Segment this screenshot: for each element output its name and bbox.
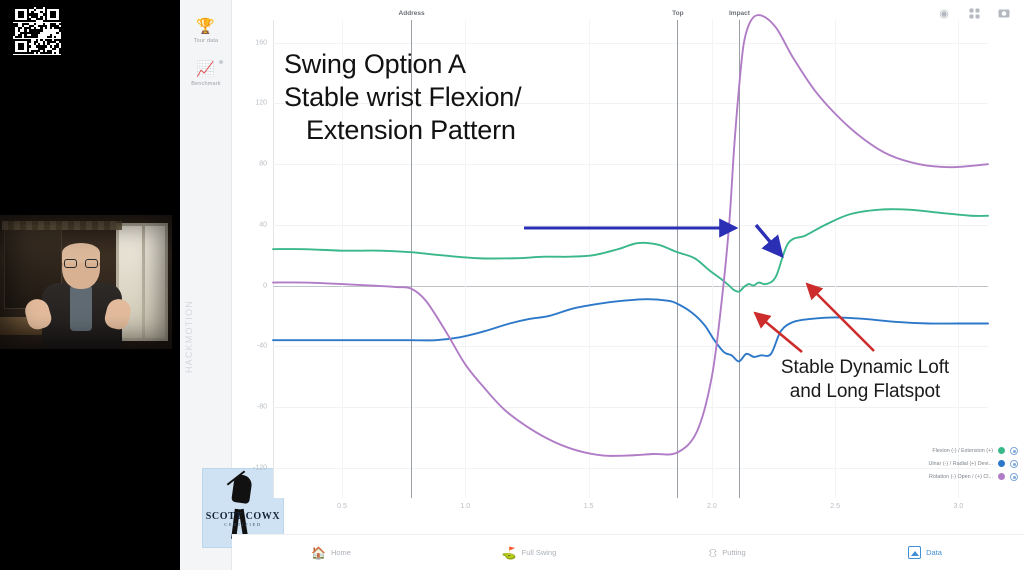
annotation-title-line1: Swing Option A bbox=[284, 48, 521, 81]
y-axis-tick-label: -120 bbox=[253, 464, 267, 471]
legend-label: Flexion (-) / Extension (+) bbox=[932, 448, 993, 454]
phase-marker-label: Top bbox=[672, 10, 683, 17]
annotation-title-line2: Stable wrist Flexion/ bbox=[284, 81, 521, 114]
trophy-icon: 🏆 bbox=[183, 18, 229, 36]
y-axis-tick-label: 80 bbox=[259, 161, 267, 168]
putter-icon: ⛻ bbox=[708, 547, 717, 559]
bottom-nav: 🏠 Home ⛳ Full Swing ⛻ Putting Data bbox=[232, 534, 1024, 570]
x-axis-tick-label: 0.5 bbox=[337, 503, 347, 510]
annotation-title-line3: Extension Pattern bbox=[284, 114, 521, 147]
nav-item-label: Home bbox=[331, 548, 351, 557]
nav-item-home[interactable]: 🏠 Home bbox=[232, 547, 430, 559]
golfer-silhouette-icon bbox=[229, 475, 255, 541]
nav-item-full-swing[interactable]: ⛳ Full Swing bbox=[430, 547, 628, 559]
rail-top-stub bbox=[180, 0, 231, 12]
annotation-title: Swing Option A Stable wrist Flexion/ Ext… bbox=[284, 48, 521, 147]
camera-icon-svg bbox=[998, 8, 1010, 18]
y-axis-tick-label: 0 bbox=[263, 282, 267, 289]
sidebar-item-tour-data[interactable]: 🏆 Tour data bbox=[183, 12, 229, 49]
nav-item-data[interactable]: Data bbox=[826, 546, 1024, 559]
left-rail: 🏆 Tour data 📈 Benchmark HACKMOTION SCOTT… bbox=[180, 0, 232, 570]
legend-item[interactable]: Ulnar (-) / Radial (+) Devi... bbox=[866, 457, 1018, 470]
logo-subtitle: CERTIFIED bbox=[203, 522, 283, 527]
eye-icon[interactable] bbox=[1010, 460, 1018, 468]
home-icon: 🏠 bbox=[311, 547, 326, 559]
x-axis-tick-label: 3.0 bbox=[954, 503, 964, 510]
legend-label: Ulnar (-) / Radial (+) Devi... bbox=[928, 461, 993, 467]
annotation-note-line1: Stable Dynamic Loft bbox=[750, 356, 980, 380]
sidebar-item-label: Tour data bbox=[181, 38, 229, 44]
camera-icon[interactable] bbox=[994, 4, 1014, 22]
legend-item[interactable]: Rotation (-) Open / (+) Cl... bbox=[866, 470, 1018, 483]
annotation-note-line2: and Long Flatspot bbox=[750, 380, 980, 404]
webcam-vignette bbox=[0, 215, 172, 349]
x-axis-tick-label: 2.5 bbox=[830, 503, 840, 510]
x-axis-tick-label: 1.5 bbox=[584, 503, 594, 510]
phase-marker-label: Address bbox=[399, 10, 425, 17]
y-axis-tick-label: 160 bbox=[255, 39, 267, 46]
legend-color-swatch bbox=[998, 447, 1005, 454]
nav-item-label: Full Swing bbox=[522, 548, 557, 557]
brand-watermark: HACKMOTION bbox=[184, 300, 228, 373]
phase-marker-label: Impact bbox=[729, 10, 750, 17]
legend-item[interactable]: Flexion (-) / Extension (+) bbox=[866, 444, 1018, 457]
eye-icon[interactable] bbox=[1010, 473, 1018, 481]
y-axis-tick-label: -40 bbox=[257, 343, 267, 350]
data-file-icon bbox=[908, 546, 921, 559]
x-axis-tick-label: 2.0 bbox=[707, 503, 717, 510]
legend-label: Rotation (-) Open / (+) Cl... bbox=[929, 474, 993, 480]
nav-item-label: Putting bbox=[722, 548, 745, 557]
nav-item-putting[interactable]: ⛻ Putting bbox=[628, 547, 826, 559]
screen-root: 🏆 Tour data 📈 Benchmark HACKMOTION SCOTT… bbox=[0, 0, 1024, 570]
series-line[interactable] bbox=[273, 209, 988, 292]
y-axis-tick-label: 40 bbox=[259, 221, 267, 228]
qr-code bbox=[6, 3, 68, 58]
sidebar-item-benchmark[interactable]: 📈 Benchmark bbox=[183, 55, 229, 92]
logo-name: SCOTT COWX bbox=[203, 511, 283, 522]
eye-icon[interactable] bbox=[1010, 447, 1018, 455]
annotation-note: Stable Dynamic Loft and Long Flatspot bbox=[750, 356, 980, 404]
y-axis-tick-label: -80 bbox=[257, 403, 267, 410]
golfer-icon: ⛳ bbox=[502, 547, 517, 559]
y-axis-tick-label: 120 bbox=[255, 100, 267, 107]
chart-legend: Flexion (-) / Extension (+) Ulnar (-) / … bbox=[866, 444, 1018, 483]
app-panel: 🏆 Tour data 📈 Benchmark HACKMOTION SCOTT… bbox=[180, 0, 1024, 570]
sidebar-item-label: Benchmark bbox=[181, 81, 229, 87]
series-line[interactable] bbox=[273, 299, 988, 361]
notification-dot-icon bbox=[219, 60, 223, 64]
x-axis-tick-label: 1.0 bbox=[460, 503, 470, 510]
legend-color-swatch bbox=[998, 473, 1005, 480]
nav-item-label: Data bbox=[926, 548, 942, 557]
grid-icon-svg bbox=[969, 8, 980, 19]
legend-color-swatch bbox=[998, 460, 1005, 467]
webcam-video[interactable] bbox=[0, 213, 172, 351]
video-column bbox=[0, 0, 180, 570]
